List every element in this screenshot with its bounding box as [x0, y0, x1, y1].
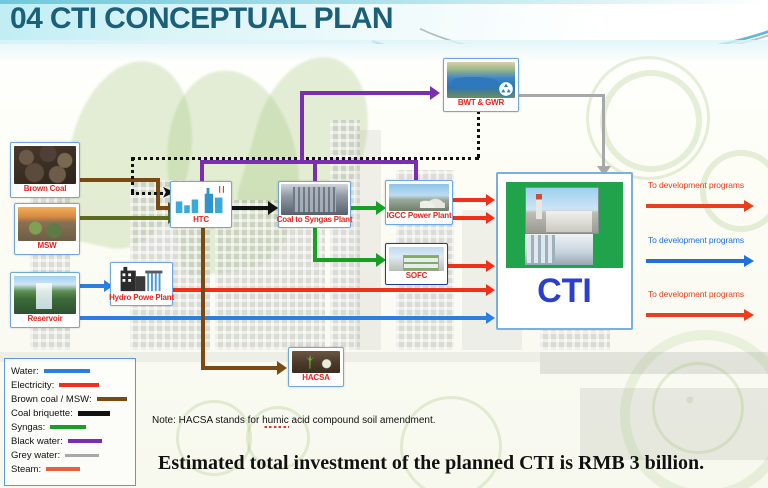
edge-blackwater-to-bwt	[300, 91, 436, 95]
output-arrow-2	[744, 255, 754, 267]
edge-htc-hacsa-v	[201, 228, 205, 370]
igcc-photo	[389, 184, 449, 211]
output-label-2: To development programs	[648, 235, 744, 245]
hydro-icon-svg	[113, 265, 170, 293]
node-brown-coal[interactable]: Brown Coal	[10, 142, 80, 198]
legend-label-black-water: Black water:	[11, 436, 63, 447]
page-title: 04 CTI CONCEPTUAL PLAN	[10, 2, 393, 36]
note-prefix: Note: HACSA stands for	[152, 415, 262, 426]
node-htc-label: HTC	[193, 215, 209, 225]
legend-label-electricity: Electricity:	[11, 380, 54, 391]
note-underlined-word: humic	[262, 415, 289, 428]
edge-syngas-sofc-h	[313, 258, 381, 262]
htc-icon	[173, 184, 229, 215]
legend-label-coal-briquette: Coal briquette:	[11, 408, 73, 419]
background-swirl-2	[652, 362, 744, 454]
legend-row: Grey water:	[11, 448, 129, 462]
hacsa-photo	[292, 351, 340, 373]
legend-swatch-electricity	[59, 383, 99, 387]
reservoir-photo	[14, 276, 76, 314]
output-arrow-1	[744, 200, 754, 212]
slide-header: 04 CTI CONCEPTUAL PLAN	[0, 0, 768, 44]
output-line-1	[646, 204, 748, 208]
edge-greywater-h	[519, 94, 605, 97]
node-htc[interactable]: HTC	[170, 181, 232, 228]
node-reservoir[interactable]: Reservoir	[10, 272, 80, 328]
node-cti-label: CTI	[537, 272, 592, 310]
cti-tank-image	[525, 234, 593, 265]
edge-blackwater-arrowhead	[430, 86, 440, 100]
legend-row: Brown coal / MSW:	[11, 392, 129, 406]
edge-msw-h	[80, 216, 170, 220]
edge-sofc-cti-arrowhead	[486, 260, 495, 272]
edge-htc-syngas-arrowhead	[268, 201, 278, 215]
edge-recycle-v2	[131, 157, 134, 193]
edge-htc-hacsa-h	[201, 366, 281, 370]
coal-to-syngas-photo	[281, 184, 348, 215]
node-brown-coal-label: Brown Coal	[24, 184, 66, 194]
node-msw-label: MSW	[38, 241, 57, 251]
hydro-power-plant-icon	[113, 265, 170, 293]
edge-greywater-v	[602, 94, 605, 168]
note-hacsa: Note: HACSA stands for humic acid compou…	[152, 415, 436, 426]
node-bwt-gwr-label: BWT & GWR	[458, 98, 504, 108]
legend-row: Black water:	[11, 434, 129, 448]
legend-swatch-browncoal-msw	[97, 397, 127, 401]
legend-label-browncoal-msw: Brown coal / MSW:	[11, 394, 92, 405]
edge-recycle-h2	[131, 192, 163, 195]
edge-recycle-v1	[477, 110, 480, 158]
node-hacsa-label: HACSA	[302, 373, 329, 383]
node-reservoir-label: Reservoir	[27, 314, 62, 324]
edge-htc-hacsa-arrowhead	[277, 361, 287, 375]
node-hydro-power-plant-label: Hydro Powe Plant	[109, 293, 174, 303]
brown-coal-photo	[14, 146, 76, 184]
edge-syngas-sofc-v	[313, 228, 317, 262]
legend: Water: Electricity: Brown coal / MSW: Co…	[4, 358, 136, 486]
edge-blackwater-trunk	[300, 91, 304, 162]
edge-browncoal-h1	[80, 178, 160, 182]
node-sofc[interactable]: SOFC	[385, 243, 448, 285]
cti-plant-image	[525, 187, 600, 234]
note-suffix: acid compound soil amendment.	[289, 415, 436, 426]
node-hydro-power-plant[interactable]: Hydro Powe Plant	[110, 262, 173, 306]
recycle-icon	[498, 81, 514, 97]
legend-row: Coal briquette:	[11, 406, 129, 420]
node-hacsa[interactable]: HACSA	[288, 347, 344, 387]
legend-row: Steam:	[11, 462, 129, 476]
node-cti[interactable]: CTI	[496, 172, 633, 330]
investment-statement: Estimated total investment of the planne…	[158, 452, 704, 475]
legend-row: Electricity:	[11, 378, 129, 392]
header-fade	[0, 40, 768, 62]
edge-reservoir-cti-arrowhead	[486, 312, 495, 324]
legend-label-steam: Steam:	[11, 464, 41, 475]
edge-igcc-cti-1-arrowhead	[486, 194, 495, 206]
edge-htc-syngas	[232, 206, 272, 210]
edge-reservoir-cti	[80, 316, 492, 320]
node-bwt-gwr[interactable]: BWT & GWR	[443, 58, 519, 112]
output-arrow-3	[744, 309, 754, 321]
msw-photo	[18, 207, 76, 241]
edge-hydro-cti-arrowhead	[486, 284, 495, 296]
node-igcc-power-plant[interactable]: IGCC Power Plant	[385, 180, 453, 225]
legend-swatch-coal-briquette	[78, 411, 110, 416]
output-line-2	[646, 259, 748, 263]
legend-swatch-water	[44, 369, 90, 373]
legend-label-syngas: Syngas:	[11, 422, 45, 433]
node-msw[interactable]: MSW	[14, 203, 80, 255]
legend-swatch-grey-water	[65, 454, 99, 457]
htc-icon-svg	[173, 184, 229, 215]
sofc-photo	[389, 247, 444, 271]
legend-label-grey-water: Grey water:	[11, 450, 60, 461]
edge-igcc-cti-2-arrowhead	[486, 212, 495, 224]
legend-row: Water:	[11, 364, 129, 378]
legend-swatch-syngas	[50, 425, 86, 429]
slide-canvas: 04 CTI CONCEPTUAL PLAN ➤	[0, 0, 768, 488]
legend-row: Syngas:	[11, 420, 129, 434]
bwt-gwr-photo	[447, 62, 515, 98]
edge-hydro-cti	[173, 288, 492, 292]
node-coal-to-syngas-plant-label: Coal to Syngas Plant	[277, 215, 353, 225]
legend-label-water: Water:	[11, 366, 39, 377]
cti-photo	[506, 182, 623, 268]
node-igcc-power-plant-label: IGCC Power Plant	[387, 211, 452, 221]
edge-blackwater-bus	[200, 160, 418, 164]
node-coal-to-syngas-plant[interactable]: Coal to Syngas Plant	[278, 181, 351, 228]
legend-swatch-black-water	[68, 439, 102, 443]
legend-swatch-steam	[46, 467, 80, 471]
output-label-3: To development programs	[648, 289, 744, 299]
output-label-1: To development programs	[648, 180, 744, 190]
node-sofc-label: SOFC	[406, 271, 427, 281]
output-line-3	[646, 313, 748, 317]
